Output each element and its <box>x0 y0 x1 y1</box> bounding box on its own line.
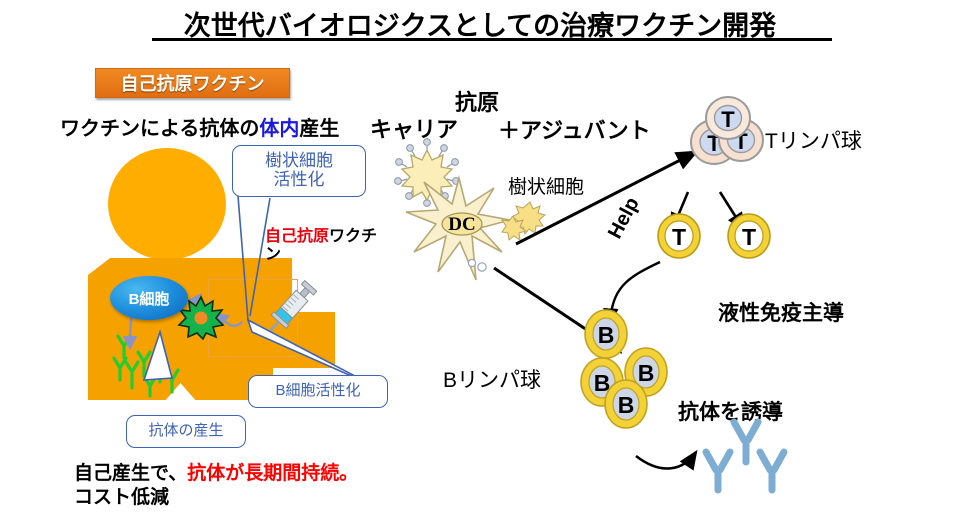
subtitle-post: 産生 <box>299 118 339 140</box>
bottom-line-2: コスト低減 <box>74 486 358 510</box>
antibody-icons <box>700 418 796 492</box>
self-antigen-vaccine-badge: 自己抗原ワクチン <box>95 68 290 98</box>
callout-bcell-activation: B細胞活性化 <box>248 375 388 408</box>
antigen-label: 抗原 <box>455 85 499 117</box>
t-cell-effector-right: T <box>725 212 773 260</box>
t-cell-cluster: T T T <box>678 96 764 172</box>
callout-bcell-line1: B細胞活性化 <box>275 383 360 400</box>
callout-dc-line2: 活性化 <box>274 171 325 190</box>
left-subtitle: ワクチンによる抗体の体内産生 <box>60 112 339 141</box>
callout-antibody-production: 抗体の産生 <box>126 415 246 448</box>
bottom-pre: 自己産生で、 <box>74 463 187 484</box>
svg-text:T: T <box>742 224 756 250</box>
bottom-line-1: 自己産生で、抗体が長期間持続。 <box>74 462 358 486</box>
subtitle-pre: ワクチンによる抗体の <box>60 118 259 140</box>
callout-antibody-line1: 抗体の産生 <box>148 423 223 440</box>
svg-text:B: B <box>638 360 655 386</box>
b-cell-cluster: B B B B <box>578 310 688 422</box>
svg-text:B: B <box>618 392 635 418</box>
t-cell-effector-left: T <box>655 212 703 260</box>
title-underline <box>152 38 832 41</box>
left-bottom-note: 自己産生で、抗体が長期間持続。 コスト低減 <box>74 462 358 510</box>
callout-dc-line1: 樹状細胞 <box>265 152 333 171</box>
svg-text:T: T <box>721 107 735 132</box>
svg-text:B: B <box>598 322 615 348</box>
subtitle-highlight: 体内 <box>259 118 299 140</box>
slide-canvas: 次世代バイオロジクスとしての治療ワクチン開発 自己抗原ワクチン ワクチンによる抗… <box>0 0 960 512</box>
bottom-red: 抗体が長期間持続。 <box>187 463 358 484</box>
svg-text:T: T <box>672 224 686 250</box>
callout-dendritic-activation: 樹状細胞 活性化 <box>232 145 366 197</box>
